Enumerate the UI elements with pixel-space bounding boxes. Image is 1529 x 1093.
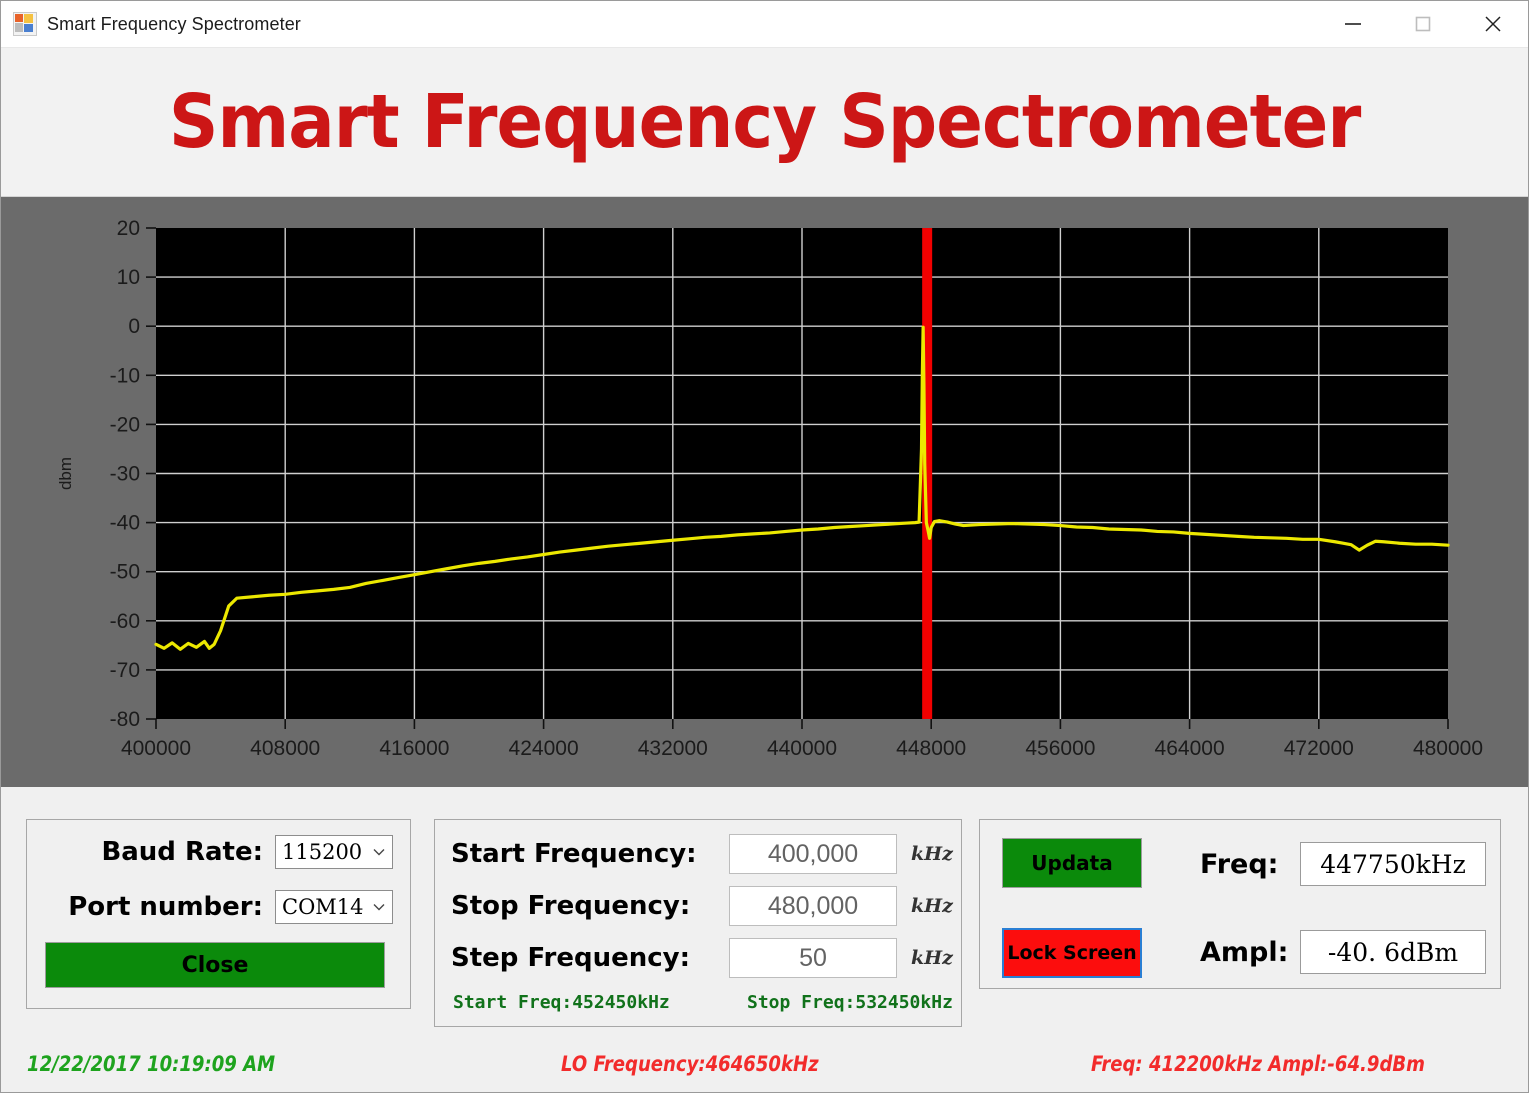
y-tick-label: -10: [110, 364, 140, 387]
close-icon: [1483, 14, 1503, 34]
title-bar: Smart Frequency Spectrometer: [1, 1, 1528, 48]
update-button[interactable]: Updata: [1002, 838, 1142, 888]
baud-rate-label: Baud Rate:: [45, 837, 275, 867]
y-tick-label: 10: [117, 266, 140, 289]
marker-ampl-row: Ampl: -40. 6dBm: [1200, 930, 1486, 974]
baud-rate-row: Baud Rate: 115200: [45, 835, 393, 869]
x-tick-label: 416000: [379, 737, 449, 760]
start-frequency-label: Start Frequency:: [451, 839, 729, 869]
lock-screen-button[interactable]: Lock Screen: [1002, 928, 1142, 978]
step-frequency-label: Step Frequency:: [451, 943, 729, 973]
step-frequency-input[interactable]: 50: [729, 938, 897, 978]
window-controls: [1318, 1, 1528, 47]
port-number-select[interactable]: COM14: [275, 890, 393, 924]
port-number-row: Port number: COM14: [45, 890, 393, 924]
step-frequency-row: Step Frequency: 50 kHz: [451, 938, 953, 978]
start-freq-status: Start Freq:452450kHz: [453, 992, 670, 1013]
frequency-settings-panel: Start Frequency: 400,000 kHz Stop Freque…: [434, 819, 962, 1027]
status-marker-readout: Freq: 412200kHz Ampl:-64.9dBm: [1091, 1052, 1425, 1076]
serial-settings-panel: Baud Rate: 115200 Port number: COM14 Cl: [26, 819, 411, 1009]
y-tick-label: -20: [110, 413, 140, 436]
controls-area: Baud Rate: 115200 Port number: COM14 Cl: [1, 787, 1528, 1092]
x-tick-label: 440000: [767, 737, 837, 760]
banner-title: Smart Frequency Spectrometer: [169, 85, 1361, 159]
app-window-icon: [13, 12, 37, 36]
close-button[interactable]: [1458, 1, 1528, 47]
status-datetime: 12/22/2017 10:19:09 AM: [27, 1052, 275, 1076]
x-tick-label: 432000: [638, 737, 708, 760]
window-title: Smart Frequency Spectrometer: [47, 14, 301, 35]
marker-ampl-label: Ampl:: [1200, 937, 1300, 968]
marker-freq-value[interactable]: 447750kHz: [1300, 842, 1486, 886]
y-tick-label: -70: [110, 659, 140, 682]
x-tick-label: 408000: [250, 737, 320, 760]
start-frequency-input[interactable]: 400,000: [729, 834, 897, 874]
start-frequency-unit: kHz: [911, 843, 953, 865]
baud-rate-select[interactable]: 115200: [275, 835, 393, 869]
marker-control-panel: Updata Lock Screen Freq: 447750kHz Ampl:…: [979, 819, 1501, 989]
close-port-button[interactable]: Close: [45, 942, 385, 988]
maximize-icon: [1414, 15, 1432, 33]
marker-freq-row: Freq: 447750kHz: [1200, 842, 1486, 886]
marker-ampl-value[interactable]: -40. 6dBm: [1300, 930, 1486, 974]
status-bar: 12/22/2017 10:19:09 AM LO Frequency:4646…: [1, 1048, 1528, 1092]
banner: Smart Frequency Spectrometer: [1, 48, 1528, 196]
minimize-button[interactable]: [1318, 1, 1388, 47]
port-number-value: COM14: [276, 895, 364, 919]
chevron-down-icon: [373, 901, 385, 913]
y-tick-label: 0: [128, 315, 140, 338]
port-number-label: Port number:: [45, 892, 275, 922]
x-tick-label: 400000: [121, 737, 191, 760]
x-tick-label: 480000: [1413, 737, 1483, 760]
baud-rate-value: 115200: [276, 840, 362, 864]
x-tick-label: 472000: [1284, 737, 1354, 760]
y-tick-label: -60: [110, 610, 140, 633]
stop-frequency-input[interactable]: 480,000: [729, 886, 897, 926]
spectrum-chart[interactable]: 20100-10-20-30-40-50-60-70-8040000040800…: [1, 196, 1528, 787]
y-tick-label: -80: [110, 708, 140, 731]
spectrum-plot[interactable]: 20100-10-20-30-40-50-60-70-8040000040800…: [1, 197, 1528, 786]
y-tick-label: -30: [110, 463, 140, 486]
step-frequency-unit: kHz: [911, 947, 953, 969]
start-frequency-row: Start Frequency: 400,000 kHz: [451, 834, 953, 874]
marker-freq-label: Freq:: [1200, 849, 1300, 880]
x-tick-label: 424000: [509, 737, 579, 760]
stop-freq-status: Stop Freq:532450kHz: [747, 992, 953, 1013]
maximize-button[interactable]: [1388, 1, 1458, 47]
status-lo-frequency: LO Frequency:464650kHz: [561, 1052, 819, 1076]
stop-frequency-unit: kHz: [911, 895, 953, 917]
stop-frequency-row: Stop Frequency: 480,000 kHz: [451, 886, 953, 926]
x-tick-label: 464000: [1155, 737, 1225, 760]
y-axis-label: dbm: [56, 457, 75, 490]
app-window: Smart Frequency Spectrometer Smart F: [0, 0, 1529, 1093]
x-tick-label: 456000: [1025, 737, 1095, 760]
x-tick-label: 448000: [896, 737, 966, 760]
chevron-down-icon: [373, 846, 385, 858]
y-tick-label: -40: [110, 512, 140, 535]
y-tick-label: -50: [110, 561, 140, 584]
stop-frequency-label: Stop Frequency:: [451, 891, 729, 921]
y-tick-label: 20: [117, 217, 140, 240]
minimize-icon: [1342, 18, 1364, 30]
